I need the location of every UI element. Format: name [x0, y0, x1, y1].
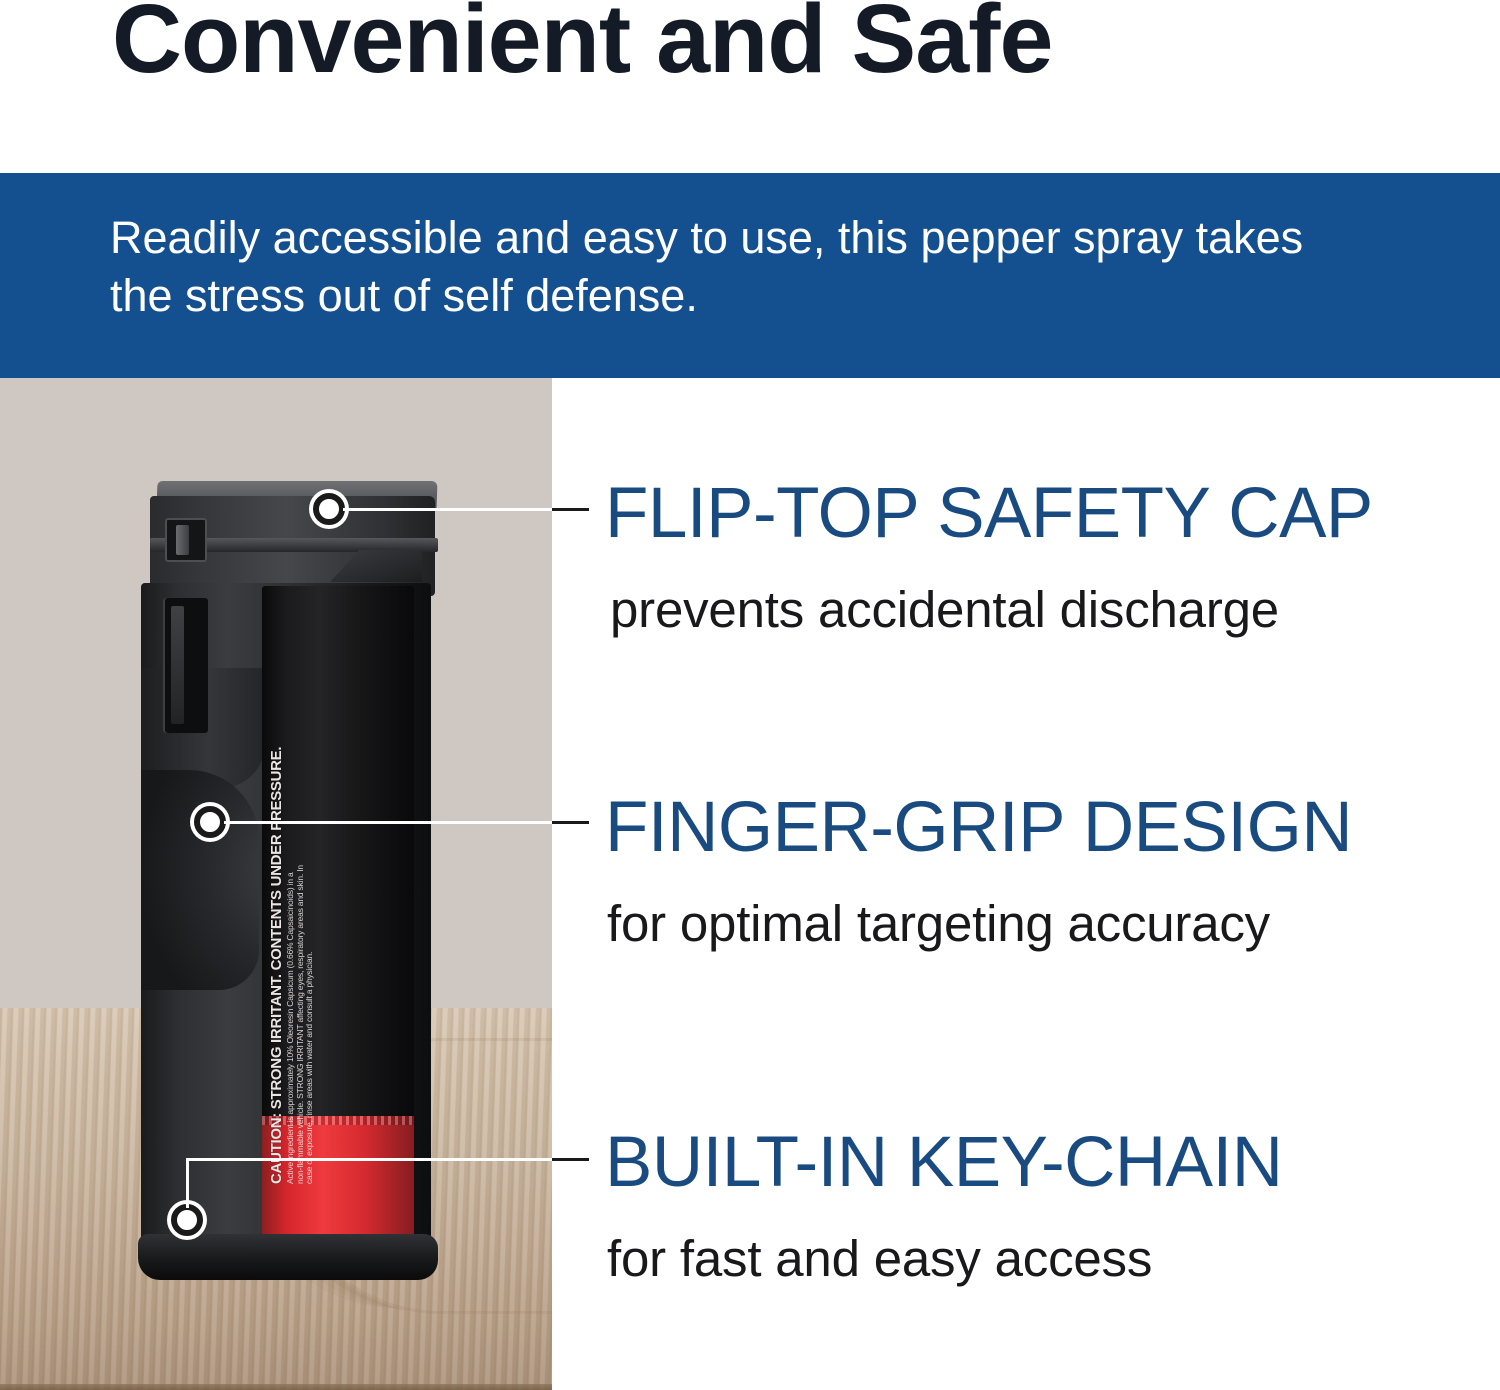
callout-dot-finger-grip-design — [194, 806, 226, 838]
leader-line-built-in-key-chain — [552, 1158, 589, 1161]
leader-line-finger-grip-design-over-photo — [224, 821, 553, 824]
title-section: Convenient and Safe — [0, 0, 1500, 173]
canister-base — [138, 1234, 438, 1280]
feature-built-in-key-chain: BUILT-IN KEY-CHAIN for fast and easy acc… — [605, 1127, 1283, 1284]
actuator-slot — [163, 598, 208, 733]
feature-finger-grip-design: FINGER-GRIP DESIGN for optimal targeting… — [605, 792, 1352, 949]
callout-dot-flip-top-safety-cap — [313, 493, 345, 525]
actuator-lever — [171, 606, 184, 724]
feature-title-flip-top-safety-cap: FLIP-TOP SAFETY CAP — [605, 478, 1373, 549]
leader-line-finger-grip-design — [552, 821, 589, 824]
product-photo: CAUTION: STRONG IRRITANT. CONTENTS UNDER… — [0, 378, 552, 1390]
callout-dot-built-in-key-chain — [171, 1204, 203, 1236]
intro-banner: Readily accessible and easy to use, this… — [0, 173, 1500, 378]
leader-line-flip-top-safety-cap-over-photo — [343, 508, 553, 511]
product-feature-infographic: Convenient and Safe Readily accessible a… — [0, 0, 1500, 1390]
intro-banner-text: Readily accessible and easy to use, this… — [110, 209, 1370, 325]
feature-subtitle-flip-top-safety-cap: prevents accidental discharge — [610, 584, 1373, 635]
finger-grip-contour — [141, 770, 259, 990]
leader-line-flip-top-safety-cap — [552, 508, 589, 511]
feature-flip-top-safety-cap: FLIP-TOP SAFETY CAP prevents accidental … — [605, 478, 1373, 635]
feature-title-built-in-key-chain: BUILT-IN KEY-CHAIN — [605, 1127, 1283, 1198]
cap-hinge-tab — [176, 525, 189, 555]
feature-subtitle-finger-grip-design: for optimal targeting accuracy — [607, 898, 1352, 949]
leader-line-built-in-key-chain-over-photo — [186, 1158, 553, 1161]
feature-subtitle-built-in-key-chain: for fast and easy access — [607, 1233, 1283, 1284]
leader-line-built-in-key-chain-vertical — [186, 1158, 189, 1208]
pepper-spray-canister: CAUTION: STRONG IRRITANT. CONTENTS UNDER… — [0, 378, 552, 1390]
page-title: Convenient and Safe — [112, 0, 1052, 87]
feature-title-finger-grip-design: FINGER-GRIP DESIGN — [605, 792, 1352, 863]
